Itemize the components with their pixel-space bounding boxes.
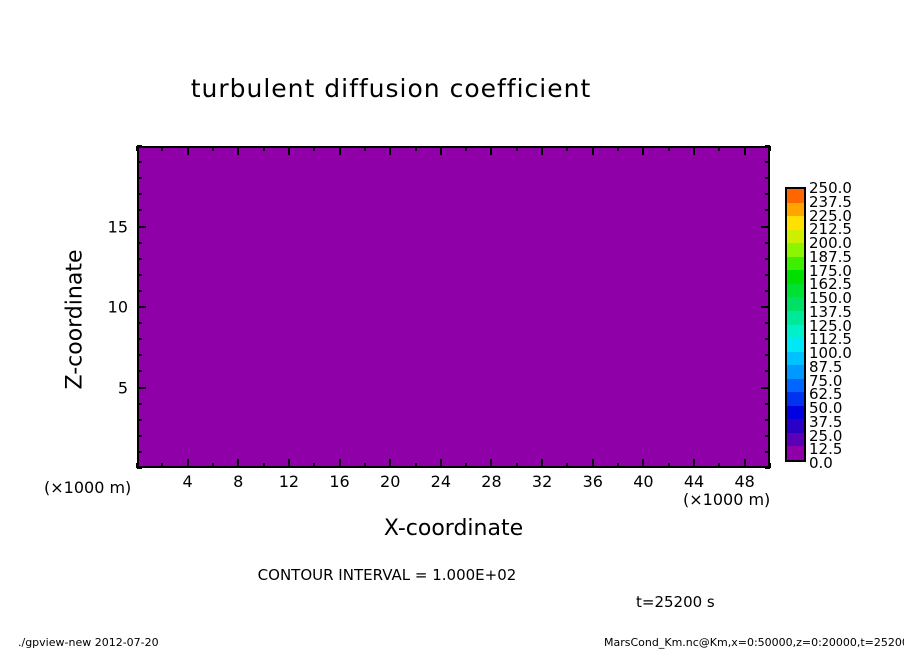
colorbar-swatch <box>787 338 804 352</box>
contour-plot-area <box>137 146 770 468</box>
x-axis-tick-label: 8 <box>233 472 243 491</box>
y-axis-tick-label: 10 <box>108 298 128 317</box>
colorbar-swatch <box>787 406 804 420</box>
colorbar-swatch <box>787 379 804 393</box>
colorbar-swatch <box>787 392 804 406</box>
colorbar-tick-labels: 250.0237.5225.0212.5200.0187.5175.0162.5… <box>809 180 869 469</box>
x-axis-unit-label: (×1000 m) <box>683 490 770 509</box>
x-axis-tick-label: 40 <box>633 472 653 491</box>
colorbar-swatch <box>787 203 804 217</box>
footer-dataset-info: MarsCond_Km.nc@Km,x=0:50000,z=0:20000,t=… <box>604 636 904 649</box>
colorbar <box>785 187 806 462</box>
turbulent-diffusion-field <box>139 148 768 466</box>
x-axis-title: X-coordinate <box>137 516 770 541</box>
y-axis-tick-label: 15 <box>108 217 128 236</box>
x-axis-tick-label: 4 <box>183 472 193 491</box>
y-axis-tick-label: 5 <box>118 378 128 397</box>
x-axis-tick-label: 48 <box>734 472 754 491</box>
colorbar-swatch <box>787 257 804 271</box>
time-label: t=25200 s <box>636 593 715 611</box>
colorbar-swatch <box>787 284 804 298</box>
footer-command-date: ./gpview-new 2012-07-20 <box>18 636 159 649</box>
colorbar-swatch <box>787 325 804 339</box>
colorbar-swatch <box>787 230 804 244</box>
colorbar-swatch <box>787 419 804 433</box>
y-axis-title: Z-coordinate <box>63 210 88 430</box>
y-axis-unit-label: (×1000 m) <box>44 478 131 497</box>
x-axis-tick-label: 16 <box>329 472 349 491</box>
colorbar-tick-label: 0.0 <box>809 456 833 471</box>
x-axis-tick-label: 20 <box>380 472 400 491</box>
x-axis-tick-label: 12 <box>279 472 299 491</box>
colorbar-swatch <box>787 311 804 325</box>
page-title: turbulent diffusion coefficient <box>0 74 782 103</box>
x-axis-tick-label: 24 <box>431 472 451 491</box>
colorbar-swatch <box>787 243 804 257</box>
x-axis-tick-label: 36 <box>583 472 603 491</box>
x-axis-tick-label: 28 <box>481 472 501 491</box>
colorbar-swatch <box>787 352 804 366</box>
x-axis-tick-label: 32 <box>532 472 552 491</box>
x-axis-tick-label: 44 <box>684 472 704 491</box>
colorbar-swatch <box>787 446 804 460</box>
contour-interval-label: CONTOUR INTERVAL = 1.000E+02 <box>137 566 637 584</box>
colorbar-swatch <box>787 216 804 230</box>
colorbar-swatch <box>787 365 804 379</box>
colorbar-swatch <box>787 189 804 203</box>
colorbar-swatch <box>787 270 804 284</box>
colorbar-swatch <box>787 433 804 447</box>
colorbar-swatch <box>787 297 804 311</box>
